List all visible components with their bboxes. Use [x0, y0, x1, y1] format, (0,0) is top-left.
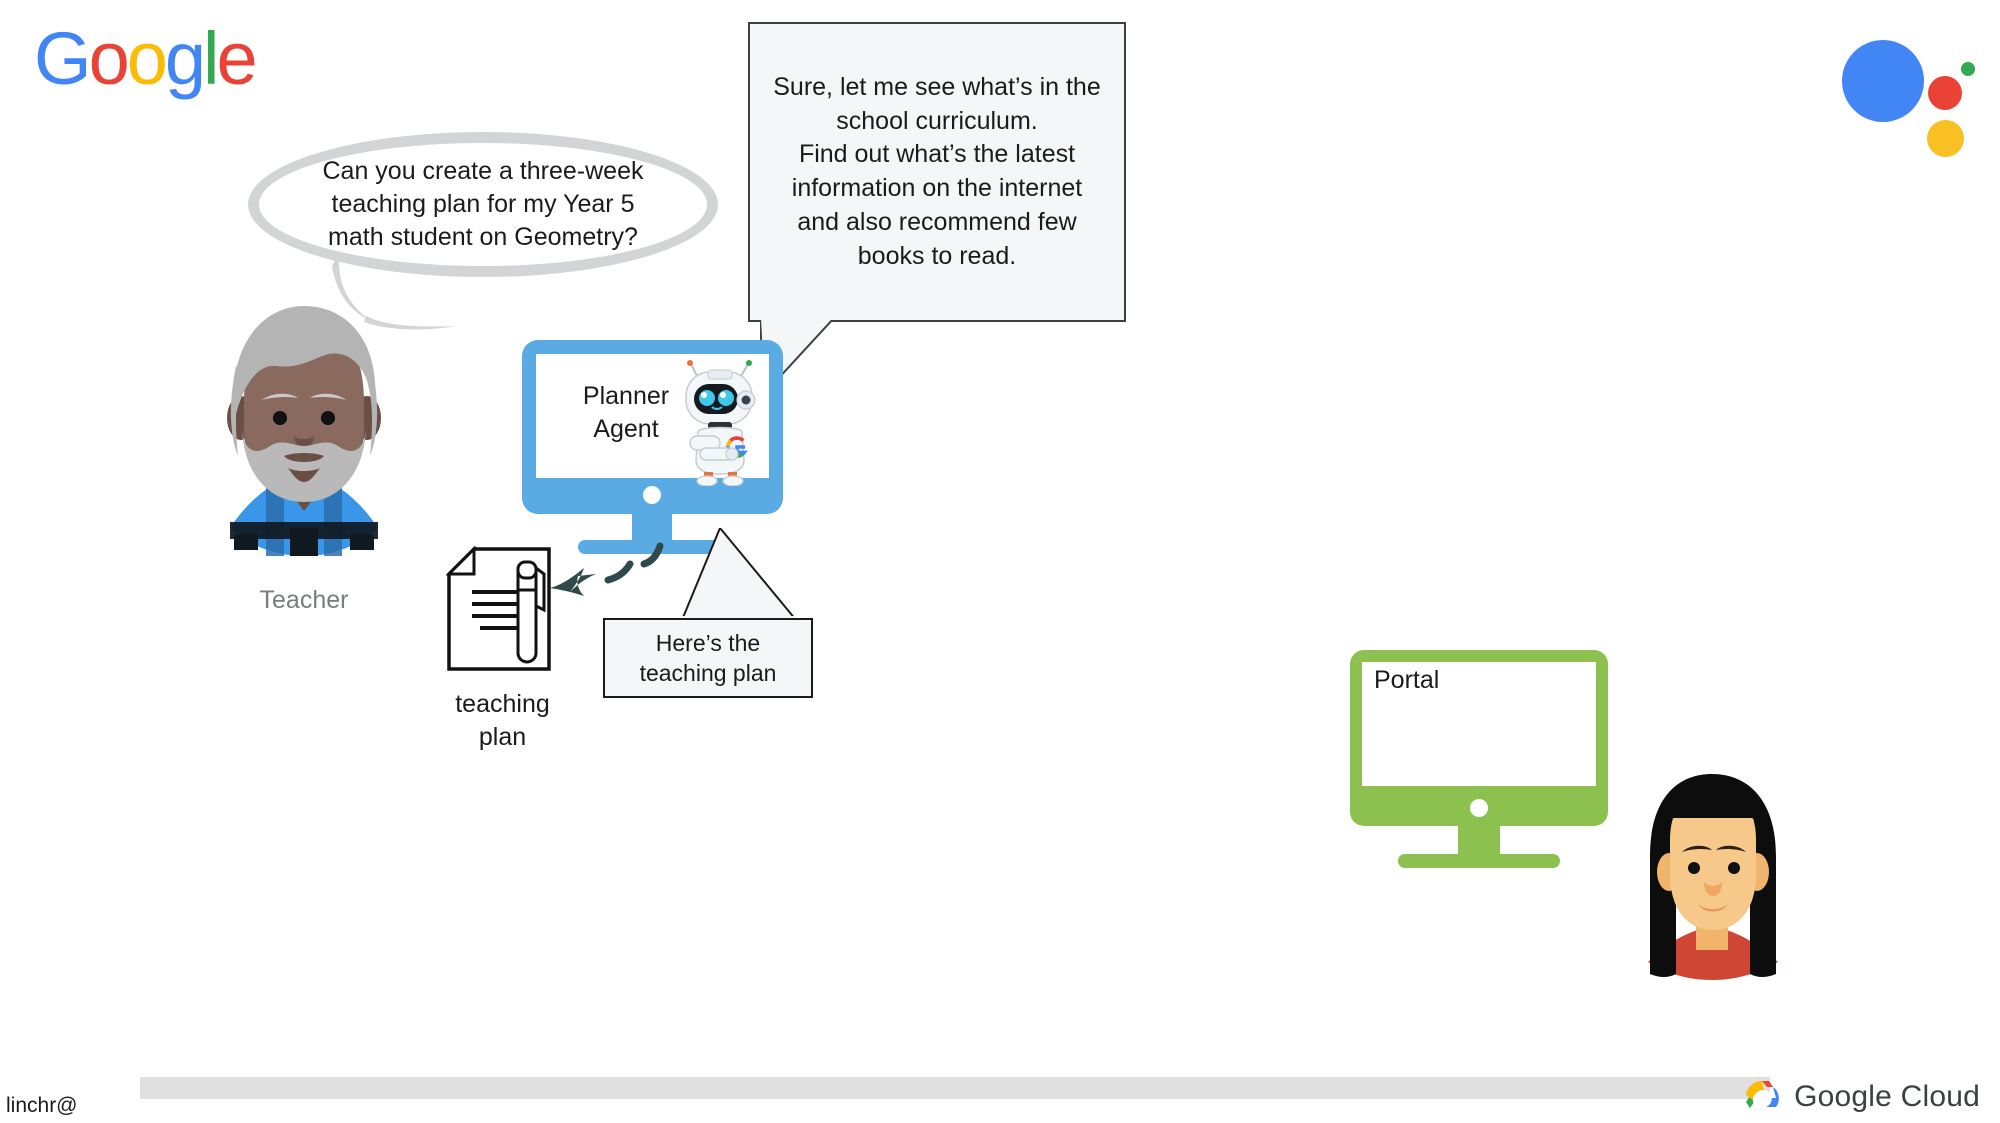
delivery-note-callout: Here’s the teaching plan: [603, 618, 813, 698]
teacher-eye-right-icon: [321, 411, 335, 425]
assistant-blue-dot-icon: [1842, 40, 1924, 122]
assistant-green-dot-icon: [1961, 62, 1975, 76]
google-logo-letter-G: G: [34, 17, 89, 100]
teacher-caption: Teacher: [214, 586, 394, 615]
portal-monitor: Portal: [1348, 648, 1610, 878]
teacher-speech-text: Can you create a three-week teaching pla…: [276, 155, 689, 255]
agent-speech-bubble: Sure, let me see what’s in the school cu…: [748, 22, 1126, 322]
footer-progress-bar: [140, 1077, 1770, 1099]
slide-canvas: Google Can you create a three-week teach…: [0, 0, 2000, 1123]
google-logo-letter-l: l: [203, 17, 216, 100]
teacher-eye-left-icon: [273, 411, 287, 425]
planner-agent-label: Planner Agent: [566, 380, 686, 445]
assistant-red-dot-icon: [1928, 76, 1962, 110]
assistant-yellow-dot-icon: [1927, 120, 1964, 157]
student-eye-left-icon: [1688, 862, 1700, 874]
google-cloud-word-google: Google: [1794, 1080, 1892, 1113]
planner-robot-icon: [678, 360, 762, 486]
teaching-plan-caption: teaching plan: [415, 688, 590, 754]
teaching-plan-document-icon: [446, 546, 556, 672]
assistant-dots-icon: [1842, 34, 1962, 144]
teacher-avatar: [214, 296, 394, 556]
google-logo-letter-o1: o: [89, 17, 127, 100]
google-logo-letter-e: e: [216, 17, 254, 100]
google-cloud-mark-icon: [1743, 1080, 1783, 1114]
footer-username: linchr@: [6, 1094, 78, 1118]
handoff-arrow-icon: [544, 540, 684, 620]
agent-speech-text: Sure, let me see what’s in the school cu…: [751, 71, 1123, 274]
google-cloud-wordmark: Google Cloud: [1794, 1080, 1980, 1114]
teacher-speech-bubble: Can you create a three-week teaching pla…: [248, 132, 718, 277]
delivery-note-tail: [680, 528, 810, 623]
google-logo-letter-o2: o: [127, 17, 165, 100]
google-logo: Google: [34, 22, 255, 96]
google-logo-letter-g: g: [165, 17, 203, 100]
google-cloud-word-cloud: Cloud: [1901, 1080, 1980, 1113]
delivery-note-text: Here’s the teaching plan: [640, 628, 777, 689]
student-avatar: [1640, 770, 1785, 980]
planner-agent-monitor: Planner Agent: [520, 338, 785, 558]
portal-label: Portal: [1374, 666, 1439, 695]
student-eye-right-icon: [1728, 862, 1740, 874]
google-cloud-logo: Google Cloud: [1743, 1078, 1980, 1116]
